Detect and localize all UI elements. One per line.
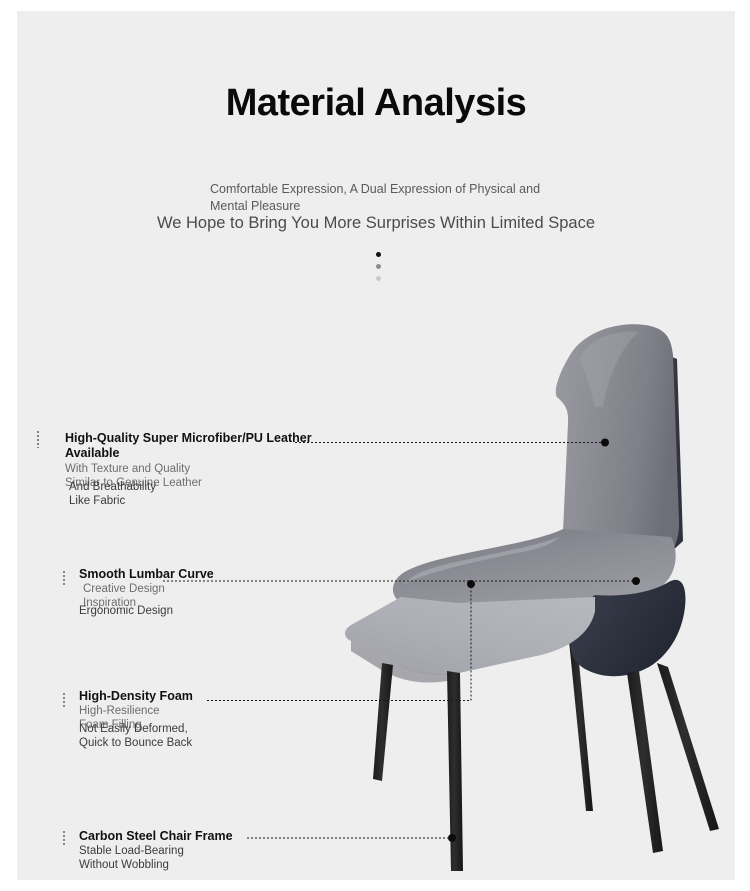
page-title: Material Analysis — [17, 83, 735, 125]
carousel-dots-indicator[interactable] — [376, 252, 386, 288]
annotation-frame-sub-a: Stable Load-Bearing Without Wobbling — [79, 844, 319, 872]
chair-product-image — [327, 311, 727, 880]
carousel-dot-3[interactable] — [376, 276, 381, 281]
content-frame: Material Analysis Comfortable Expression… — [17, 11, 735, 880]
annotation-frame: Carbon Steel Chair Frame Stable Load-Bea… — [79, 829, 319, 874]
annotation-frame-heading: Carbon Steel Chair Frame — [79, 829, 319, 844]
chair-leg-front-right — [627, 671, 663, 853]
annotation-frame-body: Stable Load-Bearing Without Wobbling — [79, 844, 319, 874]
annotation-lumbar-sub-b: Ergonomic Design — [79, 604, 173, 618]
annotation-material-sub-b: And Breathability Like Fabric — [65, 480, 156, 508]
chair-leg-front-left — [373, 663, 393, 781]
annotation-material-body: With Texture and Quality Similar to Genu… — [65, 462, 315, 498]
annotation-material-heading: High-Quality Super Microfiber/PU Leather… — [65, 431, 315, 462]
annotation-foam: High-Density Foam High-Resilience Foam F… — [79, 689, 309, 740]
subtitle-small: Comfortable Expression, A Dual Expressio… — [210, 181, 550, 215]
annotation-foam-sub-b: Not Easily Deformed, Quick to Bounce Bac… — [79, 722, 192, 750]
annotation-lumbar-body: Creative Design Inspiration Ergonomic De… — [79, 582, 309, 618]
carousel-dot-1[interactable] — [376, 252, 381, 257]
annotation-lumbar-heading: Smooth Lumbar Curve — [79, 567, 309, 582]
chair-leg-rear-right — [657, 663, 719, 831]
chair-leg-front-center — [447, 671, 463, 871]
annotation-foam-heading: High-Density Foam — [79, 689, 309, 704]
subtitle-large: We Hope to Bring You More Surprises With… — [17, 213, 735, 234]
annotation-foam-body: High-Resilience Foam Filling Not Easily … — [79, 704, 309, 740]
annotation-lumbar: Smooth Lumbar Curve Creative Design Insp… — [79, 567, 309, 618]
carousel-dot-2[interactable] — [376, 264, 381, 269]
annotation-material: High-Quality Super Microfiber/PU Leather… — [65, 431, 315, 498]
